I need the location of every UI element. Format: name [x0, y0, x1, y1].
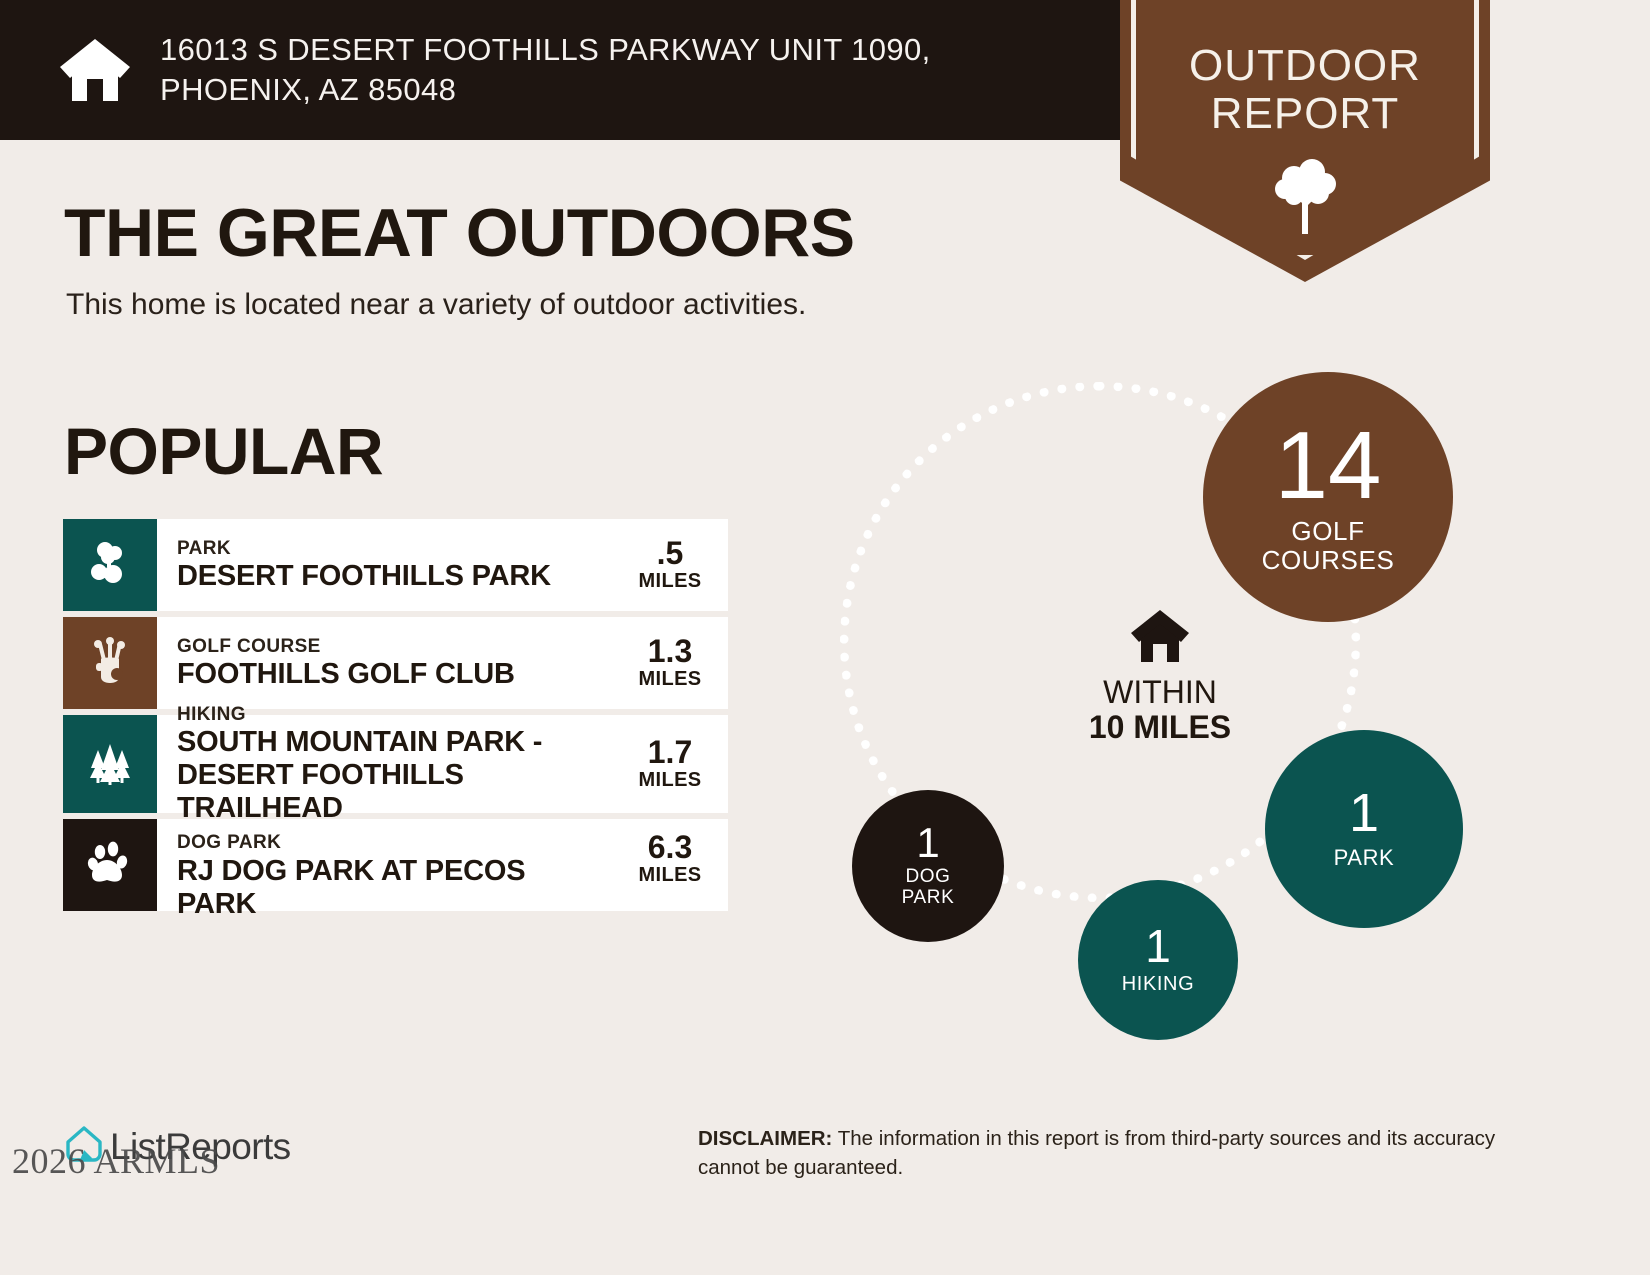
bubble-dog-park: 1 DOG PARK: [852, 790, 1004, 942]
bubble-count: 1: [916, 823, 939, 863]
badge-title: OUTDOOR REPORT: [1120, 42, 1490, 137]
within-label: WITHIN: [1045, 675, 1275, 710]
row-name: RJ DOG PARK AT PECOS PARK: [177, 855, 537, 921]
row-category: DOG PARK: [177, 831, 618, 855]
bubble-label: DOG PARK: [902, 867, 955, 909]
park-tree-icon: [86, 539, 134, 592]
row-distance: 1.3 MILES: [618, 635, 728, 691]
row-text: GOLF COURSE FOOTHILLS GOLF CLUB: [177, 635, 618, 692]
row-distance-value: 6.3: [618, 831, 722, 864]
golf-bag-icon: [86, 637, 134, 690]
row-distance-value: 1.7: [618, 736, 722, 769]
row-category: GOLF COURSE: [177, 635, 618, 659]
row-category: PARK: [177, 537, 618, 561]
row-content: PARK DESERT FOOTHILLS PARK .5 MILES: [157, 519, 728, 611]
popular-list: PARK DESERT FOOTHILLS PARK .5 MILES: [63, 519, 728, 917]
list-item[interactable]: GOLF COURSE FOOTHILLS GOLF CLUB 1.3 MILE…: [63, 617, 728, 709]
property-address: 16013 S DESERT FOOTHILLS PARKWAY UNIT 10…: [160, 30, 931, 109]
home-icon: [1129, 651, 1191, 668]
bubble-label-line-2: PARK: [902, 888, 955, 909]
amenities-bubble-chart: 14 GOLF COURSES 1 PARK 1 HIKING 1 DOG PA…: [820, 350, 1520, 1050]
bubble-count: 1: [1349, 788, 1379, 839]
badge-title-line-1: OUTDOOR: [1120, 42, 1490, 90]
row-content: GOLF COURSE FOOTHILLS GOLF CLUB 1.3 MILE…: [157, 617, 728, 709]
row-text: HIKING SOUTH MOUNTAIN PARK - DESERT FOOT…: [177, 703, 618, 826]
mls-watermark: 2026 ARMLS: [12, 1140, 220, 1182]
bubble-label: HIKING: [1122, 973, 1195, 995]
row-icon-tile: [63, 715, 157, 813]
address-line-2: PHOENIX, AZ 85048: [160, 70, 931, 110]
row-text: DOG PARK RJ DOG PARK AT PECOS PARK: [177, 831, 618, 921]
page-subtitle: This home is located near a variety of o…: [66, 288, 806, 322]
row-distance-value: 1.3: [618, 635, 722, 668]
bubble-hiking: 1 HIKING: [1078, 880, 1238, 1040]
row-text: PARK DESERT FOOTHILLS PARK: [177, 537, 618, 594]
badge-title-line-2: REPORT: [1120, 90, 1490, 138]
row-distance-value: .5: [618, 537, 722, 570]
bubble-count: 14: [1275, 420, 1382, 511]
row-name: FOOTHILLS GOLF CLUB: [177, 658, 618, 691]
row-distance-unit: MILES: [618, 570, 722, 593]
row-distance: 6.3 MILES: [618, 831, 728, 887]
row-content: HIKING SOUTH MOUNTAIN PARK - DESERT FOOT…: [157, 715, 728, 813]
pine-trees-icon: [86, 738, 134, 791]
bubble-label-line-1: GOLF: [1262, 517, 1395, 546]
row-distance-unit: MILES: [618, 668, 722, 691]
row-category: HIKING: [177, 703, 618, 727]
row-distance: .5 MILES: [618, 537, 728, 593]
row-name: SOUTH MOUNTAIN PARK - DESERT FOOTHILLS T…: [177, 726, 618, 825]
row-distance-unit: MILES: [618, 864, 722, 887]
bubble-golf-courses: 14 GOLF COURSES: [1203, 372, 1453, 622]
row-name: DESERT FOOTHILLS PARK: [177, 560, 618, 593]
disclaimer-label: DISCLAIMER:: [698, 1127, 832, 1150]
home-icon: [58, 37, 132, 103]
bubble-label: GOLF COURSES: [1262, 517, 1395, 574]
diagram-center: WITHIN 10 MILES: [1045, 608, 1275, 745]
address-line-1: 16013 S DESERT FOOTHILLS PARKWAY UNIT 10…: [160, 30, 931, 70]
section-title-popular: POPULAR: [64, 413, 383, 489]
row-icon-tile: [63, 819, 157, 911]
header-bar: 16013 S DESERT FOOTHILLS PARKWAY UNIT 10…: [0, 0, 1185, 140]
disclaimer: DISCLAIMER: The information in this repo…: [698, 1124, 1508, 1182]
bubble-count: 1: [1145, 925, 1171, 969]
row-distance-unit: MILES: [618, 769, 722, 792]
row-distance: 1.7 MILES: [618, 736, 728, 792]
row-icon-tile: [63, 519, 157, 611]
row-content: DOG PARK RJ DOG PARK AT PECOS PARK 6.3 M…: [157, 819, 728, 911]
within-distance: 10 MILES: [1045, 710, 1275, 745]
bubble-park: 1 PARK: [1265, 730, 1463, 928]
bubble-label-line-1: DOG: [902, 867, 955, 888]
tree-icon: [1272, 158, 1338, 236]
paw-print-icon: [86, 839, 134, 892]
bubble-label-line-2: COURSES: [1262, 546, 1395, 575]
outdoor-report-badge: OUTDOOR REPORT: [1120, 0, 1490, 282]
list-item[interactable]: DOG PARK RJ DOG PARK AT PECOS PARK 6.3 M…: [63, 819, 728, 911]
bubble-label: PARK: [1334, 846, 1395, 870]
list-item[interactable]: PARK DESERT FOOTHILLS PARK .5 MILES: [63, 519, 728, 611]
row-icon-tile: [63, 617, 157, 709]
list-item[interactable]: HIKING SOUTH MOUNTAIN PARK - DESERT FOOT…: [63, 715, 728, 813]
page-title: THE GREAT OUTDOORS: [64, 194, 855, 272]
